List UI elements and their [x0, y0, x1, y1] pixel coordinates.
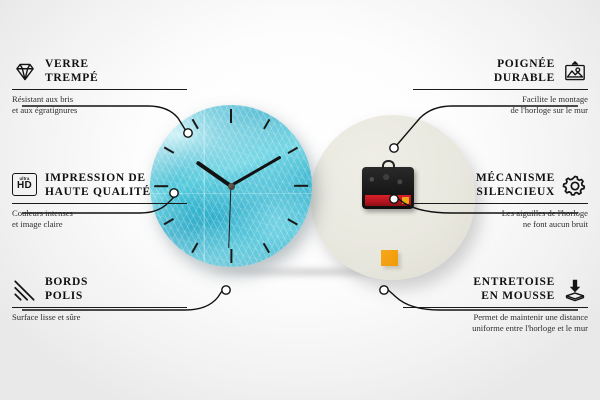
hanger-loop-icon — [382, 160, 395, 169]
callout-title: IMPRESSION DEHAUTE QUALITÉ — [45, 172, 151, 199]
callout-description: Couleurs intenseset image claire — [12, 208, 187, 230]
leader-dot-polished-edges — [222, 286, 230, 294]
clock-tick — [288, 147, 298, 154]
callout-tempered-glass: VERRETREMPÉ Résistant aux briset aux égr… — [12, 58, 187, 116]
callout-title: MÉCANISMESILENCIEUX — [476, 172, 555, 199]
callout-description: Les aiguilles de l'horlogene font aucun … — [413, 208, 588, 230]
clock-tick — [230, 109, 232, 123]
callout-rule — [12, 203, 187, 204]
callout-durable-hanger: POIGNÉEDURABLE Facilite le montagede l'h… — [413, 58, 588, 116]
callout-header: BORDSPOLIS — [12, 276, 187, 303]
clock-tick — [263, 243, 270, 253]
infographic-stage: VERRETREMPÉ Résistant aux briset aux égr… — [0, 0, 600, 400]
callout-description: Résistant aux briset aux égratignures — [12, 94, 187, 116]
clock-tick — [164, 147, 174, 154]
callout-polished-edges: BORDSPOLIS Surface lisse et sûre — [12, 276, 187, 323]
mechanism-detail — [367, 173, 407, 189]
diamond-icon — [12, 59, 38, 85]
press-down-pad-icon — [562, 277, 588, 303]
callout-header: VERRETREMPÉ — [12, 58, 187, 85]
callout-title: BORDSPOLIS — [45, 276, 88, 303]
clock-tick — [294, 185, 308, 187]
callout-header: ultra HD IMPRESSION DEHAUTE QUALITÉ — [12, 172, 187, 199]
gear-icon — [562, 173, 588, 199]
clock-mechanism-module — [362, 167, 414, 209]
ultra-hd-icon: ultra HD — [12, 173, 38, 199]
foam-spacer-pad — [381, 250, 398, 266]
callout-rule — [403, 307, 588, 308]
callout-header: MÉCANISMESILENCIEUX — [413, 172, 588, 199]
leader-dot-foam — [380, 286, 388, 294]
clock-tick — [288, 218, 298, 225]
callout-rule — [413, 203, 588, 204]
callout-silent-mechanism: MÉCANISMESILENCIEUX Les aiguilles de l'h… — [413, 172, 588, 230]
clock-tick — [192, 119, 199, 129]
callout-header: POIGNÉEDURABLE — [413, 58, 588, 85]
callout-rule — [413, 89, 588, 90]
callout-high-quality-print: ultra HD IMPRESSION DEHAUTE QUALITÉ Coul… — [12, 172, 187, 230]
callout-title: POIGNÉEDURABLE — [494, 58, 555, 85]
callout-description: Facilite le montagede l'horloge sur le m… — [413, 94, 588, 116]
clock-tick — [192, 243, 199, 253]
callout-title: ENTRETOISEEN MOUSSE — [473, 276, 555, 303]
hands-center-cap — [228, 183, 235, 190]
callout-description: Surface lisse et sûre — [12, 312, 187, 323]
diagonal-stripes-icon — [12, 277, 38, 303]
hanging-frame-icon — [562, 59, 588, 85]
callout-header: ENTRETOISEEN MOUSSE — [403, 276, 588, 303]
callout-foam-spacer: ENTRETOISEEN MOUSSE Permet de maintenir … — [403, 276, 588, 334]
clock-tick — [230, 249, 232, 263]
callout-description: Permet de maintenir une distanceuniforme… — [403, 312, 588, 334]
callout-rule — [12, 89, 187, 90]
clock-tick — [263, 119, 270, 129]
callout-title: VERRETREMPÉ — [45, 58, 98, 85]
callout-rule — [12, 307, 187, 308]
battery — [365, 195, 411, 206]
